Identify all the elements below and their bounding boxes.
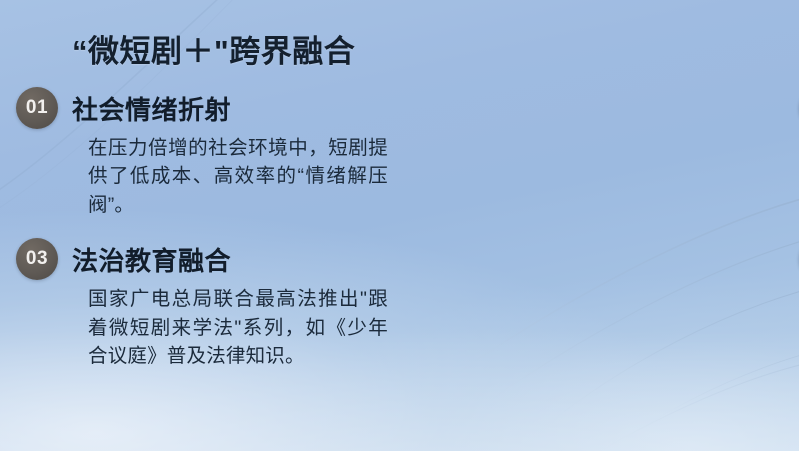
point-item: 03 法治教育融合 国家广电总局联合最高法推出"跟着微短剧来学法"系列，如《少年… — [16, 239, 399, 370]
point-item: 01 社会情绪折射 在压力倍增的社会环境中，短剧提供了低成本、高效率的“情绪解压… — [16, 88, 399, 219]
slide-canvas: “微短剧＋"跨界融合 01 社会情绪折射 在压力倍增的社会环境中，短剧提供了低成… — [0, 0, 799, 451]
point-body: 国家广电总局联合最高法推出"跟着微短剧来学法"系列，如《少年合议庭》普及法律知识… — [88, 285, 388, 370]
point-cell-03: 03 法治教育融合 国家广电总局联合最高法推出"跟着微短剧来学法"系列，如《少年… — [0, 239, 399, 370]
page-title: “微短剧＋"跨界融合 — [72, 26, 355, 71]
point-header: 01 社会情绪折射 — [16, 88, 399, 128]
point-heading: 法治教育融合 — [72, 241, 231, 278]
points-row-bottom: 03 法治教育融合 国家广电总局联合最高法推出"跟着微短剧来学法"系列，如《少年… — [0, 239, 799, 370]
point-heading: 社会情绪折射 — [72, 90, 231, 127]
point-cell-02: 02 文化内涵承载 《逃出大英博物馆》以拟人化手法讲述文物归家，引爆全民爱国情怀… — [399, 88, 799, 219]
point-header: 03 法治教育融合 — [16, 239, 399, 279]
point-cell-01: 01 社会情绪折射 在压力倍增的社会环境中，短剧提供了低成本、高效率的“情绪解压… — [0, 88, 399, 219]
point-body: 在压力倍增的社会环境中，短剧提供了低成本、高效率的“情绪解压阀”。 — [88, 134, 388, 219]
swoosh-right-5 — [600, 362, 799, 451]
point-cell-04: 04 非遗活态传播 《老盔有了新主人》以京剧传承为核心，推动非遗活态传播。 — [399, 239, 799, 370]
point-number-badge: 03 — [16, 238, 58, 280]
points-row-top: 01 社会情绪折射 在压力倍增的社会环境中，短剧提供了低成本、高效率的“情绪解压… — [0, 88, 799, 219]
point-number-badge: 01 — [16, 87, 58, 129]
points-grid: 01 社会情绪折射 在压力倍增的社会环境中，短剧提供了低成本、高效率的“情绪解压… — [0, 88, 799, 371]
